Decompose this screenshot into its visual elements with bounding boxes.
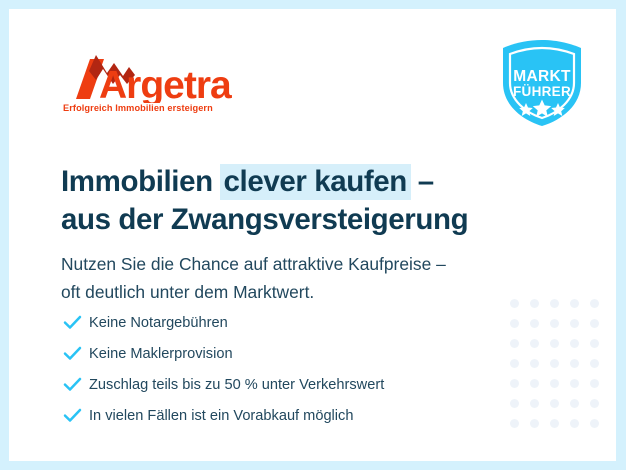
list-item: In vielen Fällen ist ein Vorabkauf mögli… bbox=[63, 400, 533, 431]
decorative-dot bbox=[590, 359, 599, 368]
decorative-dot bbox=[590, 379, 599, 388]
decorative-dot bbox=[570, 419, 579, 428]
decorative-dot bbox=[570, 379, 579, 388]
headline-suffix: – bbox=[410, 165, 434, 198]
decorative-dot bbox=[590, 419, 599, 428]
subheading: Nutzen Sie die Chance auf attraktive Kau… bbox=[61, 250, 541, 306]
headline-line-1: Immobilien clever kaufen – bbox=[61, 163, 531, 201]
decorative-dot bbox=[590, 339, 599, 348]
svg-text:Argetra: Argetra bbox=[99, 64, 232, 103]
headline-highlight: clever kaufen bbox=[220, 164, 411, 200]
decorative-dot bbox=[590, 399, 599, 408]
decorative-dot bbox=[570, 299, 579, 308]
headline-line-2: aus der Zwangsversteigerung bbox=[61, 201, 531, 239]
benefit-label: Keine Notargebühren bbox=[89, 315, 228, 331]
decorative-dot bbox=[590, 319, 599, 328]
page-title: Immobilien clever kaufen – aus der Zwang… bbox=[61, 163, 531, 239]
decorative-dot bbox=[570, 399, 579, 408]
shield-badge-icon: MARKT FÜHRER bbox=[496, 37, 588, 129]
svg-text:MARKT: MARKT bbox=[513, 68, 571, 85]
argetra-roof-a-icon: Argetra bbox=[63, 53, 253, 103]
decorative-dot bbox=[570, 319, 579, 328]
headline-prefix: Immobilien bbox=[61, 165, 221, 198]
check-icon bbox=[63, 408, 89, 423]
decorative-dot bbox=[570, 339, 579, 348]
decorative-dot bbox=[570, 359, 579, 368]
check-icon bbox=[63, 377, 89, 392]
benefit-label: Zuschlag teils bis zu 50 % unter Verkehr… bbox=[89, 377, 384, 393]
decorative-dot bbox=[550, 299, 559, 308]
market-leader-badge: MARKT FÜHRER bbox=[496, 37, 588, 129]
benefit-label: In vielen Fällen ist ein Vorabkauf mögli… bbox=[89, 408, 353, 424]
benefit-label: Keine Maklerprovision bbox=[89, 346, 233, 362]
decorative-dot bbox=[550, 399, 559, 408]
benefits-list: Keine Notargebühren Keine Maklerprovisio… bbox=[63, 307, 533, 431]
list-item: Zuschlag teils bis zu 50 % unter Verkehr… bbox=[63, 369, 533, 400]
decorative-dot bbox=[550, 419, 559, 428]
decorative-dot bbox=[550, 339, 559, 348]
decorative-dot bbox=[590, 299, 599, 308]
check-icon bbox=[63, 346, 89, 361]
list-item: Keine Notargebühren bbox=[63, 307, 533, 338]
subheading-line-1: Nutzen Sie die Chance auf attraktive Kau… bbox=[61, 250, 541, 278]
decorative-dot bbox=[550, 379, 559, 388]
argetra-logo[interactable]: Argetra Erfolgreich Immobilien ersteiger… bbox=[63, 53, 253, 119]
promo-banner: Argetra Erfolgreich Immobilien ersteiger… bbox=[0, 0, 626, 470]
decorative-dot bbox=[550, 359, 559, 368]
banner-card: Argetra Erfolgreich Immobilien ersteiger… bbox=[9, 9, 616, 461]
check-icon bbox=[63, 315, 89, 330]
subheading-line-2: oft deutlich unter dem Marktwert. bbox=[61, 278, 541, 306]
logo-tagline: Erfolgreich Immobilien ersteigern bbox=[63, 103, 213, 113]
svg-text:FÜHRER: FÜHRER bbox=[513, 84, 571, 99]
decorative-dot bbox=[550, 319, 559, 328]
list-item: Keine Maklerprovision bbox=[63, 338, 533, 369]
